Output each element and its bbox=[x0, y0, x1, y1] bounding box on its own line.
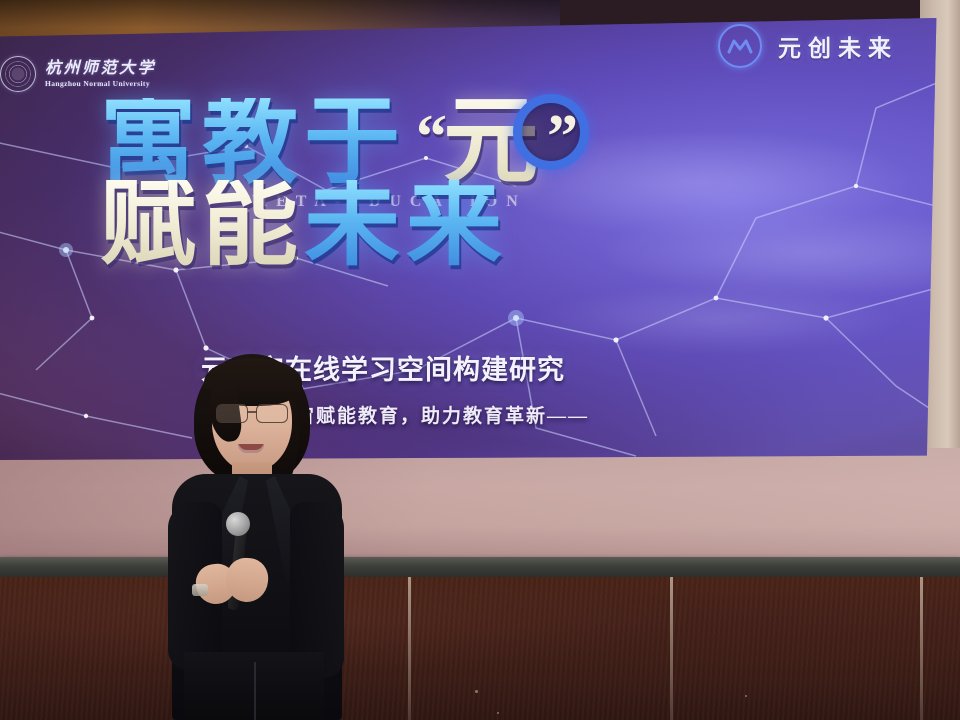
wood-panel-seam bbox=[920, 577, 923, 720]
hair-fringe bbox=[204, 358, 302, 406]
university-crest-icon bbox=[0, 56, 36, 92]
stage-wood-panel bbox=[0, 577, 960, 720]
wall-speck bbox=[745, 695, 747, 697]
lens-left bbox=[216, 404, 248, 423]
lens-right bbox=[256, 404, 288, 423]
wood-panel-seam bbox=[408, 577, 411, 720]
sponsor-lockup: 元创未来 bbox=[718, 24, 898, 68]
projection-screen: 杭州师范大学 Hangzhou Normal University 元创未来 寓… bbox=[0, 18, 944, 460]
wood-panel-seam bbox=[670, 577, 673, 720]
trousers bbox=[184, 652, 324, 720]
wall-speck bbox=[497, 712, 499, 714]
presentation-scene: 杭州师范大学 Hangzhou Normal University 元创未来 寓… bbox=[0, 0, 960, 720]
microphone-icon bbox=[226, 512, 250, 536]
quote-close-mark: ” bbox=[547, 98, 578, 168]
m-circle-logo-icon bbox=[718, 24, 762, 68]
speaker-figure bbox=[150, 352, 365, 720]
headline-char-lai: 来 bbox=[406, 180, 508, 268]
university-lockup: 杭州师范大学 Hangzhou Normal University bbox=[0, 56, 156, 92]
headline-char-wei: 未 bbox=[304, 180, 406, 268]
university-name-cn: 杭州师范大学 bbox=[45, 61, 156, 77]
sponsor-name: 元创未来 bbox=[778, 29, 898, 63]
university-name-en: Hangzhou Normal University bbox=[45, 80, 156, 88]
stage-trim-rail bbox=[0, 557, 960, 579]
wall-below-screen bbox=[0, 448, 960, 560]
headline-char-fu: 赋 bbox=[100, 180, 202, 268]
headline-char-neng: 能 bbox=[202, 180, 304, 268]
wall-speck bbox=[475, 690, 478, 693]
slide-headline: 寓 教 于 “ 元 ” META-EDUCATION 赋 能 未 来 bbox=[100, 98, 820, 269]
headline-line-2: 赋 能 未 来 bbox=[100, 180, 820, 268]
eyeglasses-icon bbox=[214, 404, 290, 421]
held-device bbox=[192, 584, 208, 596]
